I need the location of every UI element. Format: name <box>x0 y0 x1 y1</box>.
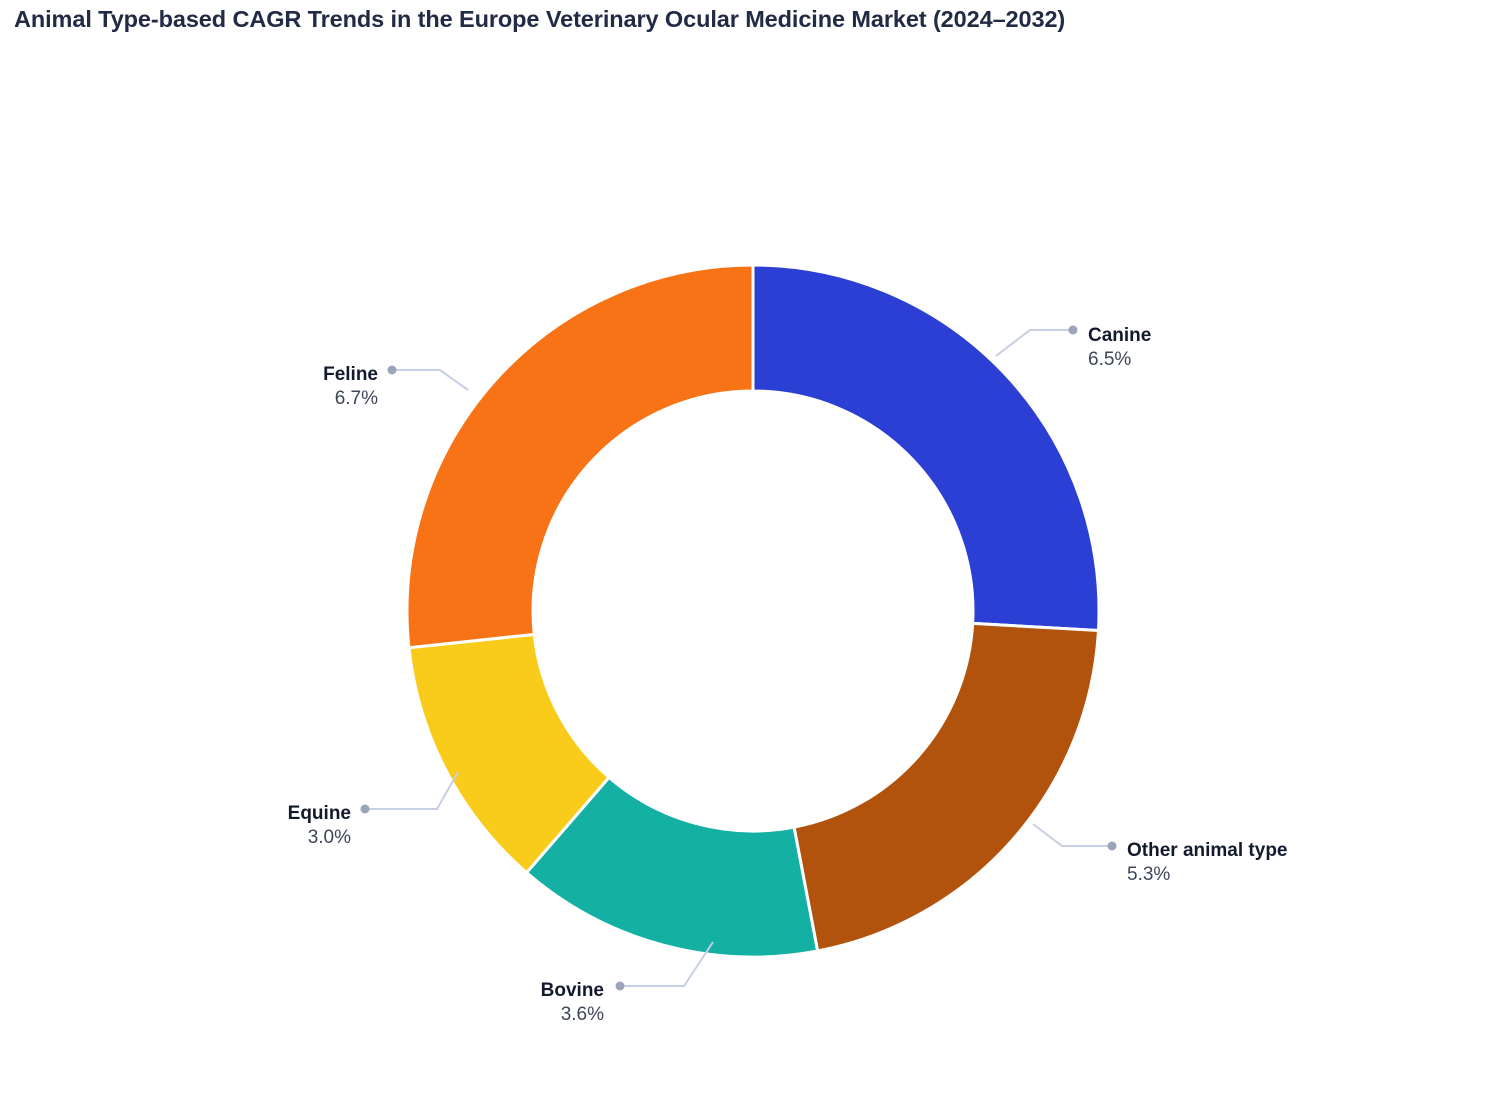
leader-dot-canine <box>1069 326 1078 335</box>
slice-canine[interactable] <box>753 265 1099 630</box>
leader-line-canine <box>996 330 1071 356</box>
label-name-other-animal-type: Other animal type <box>1127 840 1288 861</box>
slice-feline[interactable] <box>407 265 753 648</box>
leader-dot-other-animal-type <box>1108 842 1117 851</box>
label-value-other-animal-type: 5.3% <box>1127 864 1170 885</box>
label-value-bovine: 3.6% <box>561 1004 604 1025</box>
slice-other-animal-type[interactable] <box>794 623 1098 951</box>
label-value-feline: 6.7% <box>335 388 378 409</box>
leader-line-other-animal-type <box>1033 824 1110 846</box>
label-value-equine: 3.0% <box>308 827 351 848</box>
leader-line-equine <box>367 772 458 809</box>
leader-dot-bovine <box>616 982 625 991</box>
label-name-equine: Equine <box>288 803 351 824</box>
donut-svg: Canine 6.5% Other animal type 5.3% Bovin… <box>0 0 1508 1120</box>
leader-dot-equine <box>361 805 370 814</box>
donut-slices <box>407 265 1099 957</box>
leader-dot-feline <box>388 366 397 375</box>
label-name-canine: Canine <box>1088 325 1151 346</box>
label-name-bovine: Bovine <box>541 980 604 1001</box>
donut-plot-area: Canine 6.5% Other animal type 5.3% Bovin… <box>0 0 1508 1120</box>
label-value-canine: 6.5% <box>1088 349 1131 370</box>
label-name-feline: Feline <box>323 364 378 385</box>
leader-line-feline <box>394 370 468 390</box>
